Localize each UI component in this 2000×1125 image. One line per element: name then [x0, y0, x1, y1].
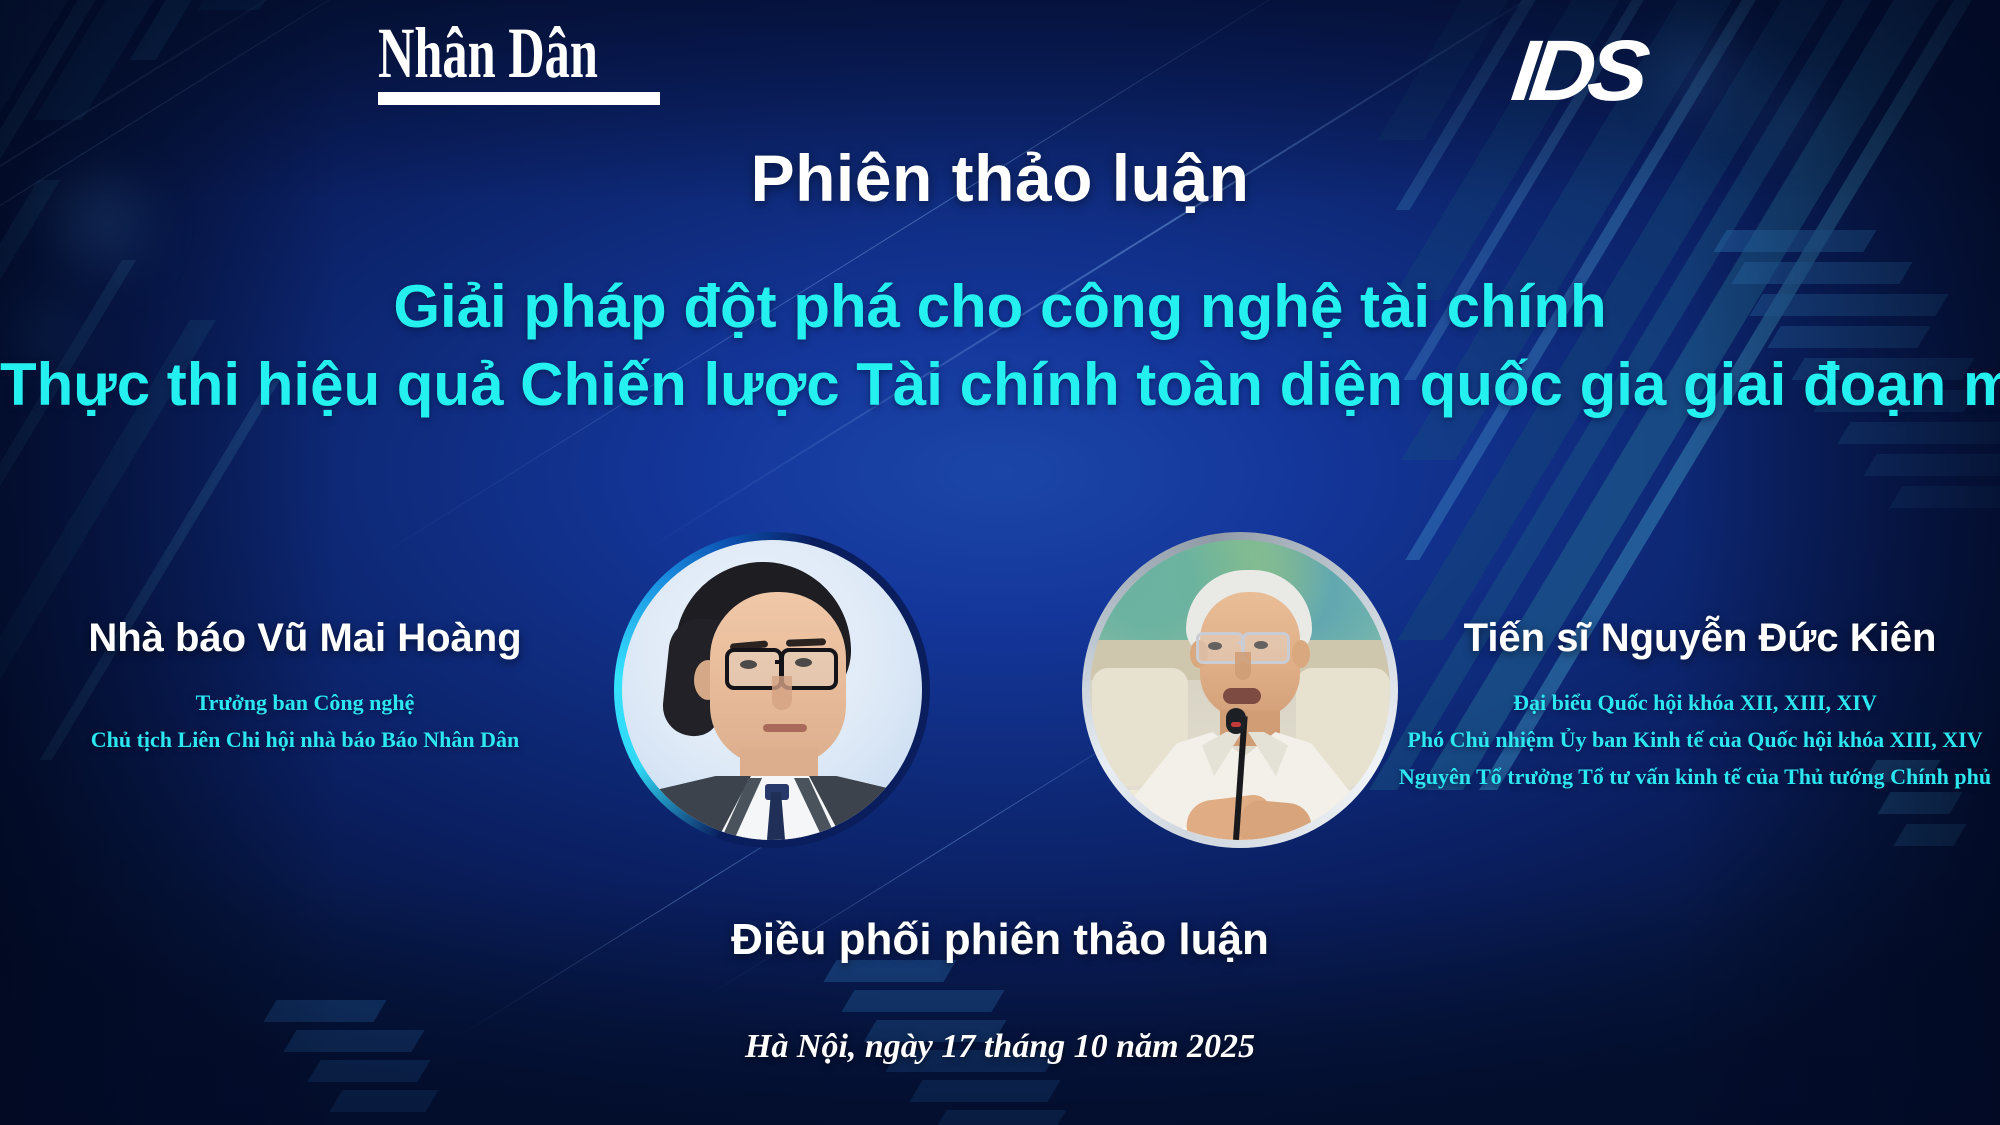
event-banner: Nhân Dân IDS Phiên thảo luận Giải pháp đ… [0, 0, 2000, 1125]
speaker-right-role-2: Phó Chủ nhiệm Ủy ban Kinh tế của Quốc hộ… [1390, 727, 2000, 753]
ids-logo: IDS [1507, 28, 1646, 114]
speaker-left-role-2: Chủ tịch Liên Chi hội nhà báo Báo Nhân D… [0, 727, 610, 753]
page-title: Phiên thảo luận [0, 140, 2000, 216]
subtitle-line-2: Thực thi hiệu quả Chiến lược Tài chính t… [0, 350, 2000, 419]
speaker-left-photo [622, 540, 922, 840]
nhan-dan-logo-underline [378, 92, 660, 105]
nhan-dan-logo-text: Nhân Dân [378, 20, 598, 86]
speaker-right-role-1: Đại biểu Quốc hội khóa XII, XIII, XIV [1390, 690, 2000, 716]
nhan-dan-logo: Nhân Dân [378, 20, 692, 105]
speaker-left-role-1: Trưởng ban Công nghệ [0, 690, 610, 716]
event-date: Hà Nội, ngày 17 tháng 10 năm 2025 [0, 1028, 2000, 1066]
speaker-right-name: Tiến sĩ Nguyễn Đức Kiên [1400, 616, 2000, 661]
moderator-label: Điều phối phiên thảo luận [0, 915, 2000, 965]
speaker-right-role-3: Nguyên Tổ trưởng Tổ tư vấn kinh tế của T… [1390, 764, 2000, 790]
speaker-right-photo [1090, 540, 1390, 840]
subtitle-line-1: Giải pháp đột phá cho công nghệ tài chín… [0, 272, 2000, 341]
speaker-left-name: Nhà báo Vũ Mai Hoàng [0, 616, 610, 661]
